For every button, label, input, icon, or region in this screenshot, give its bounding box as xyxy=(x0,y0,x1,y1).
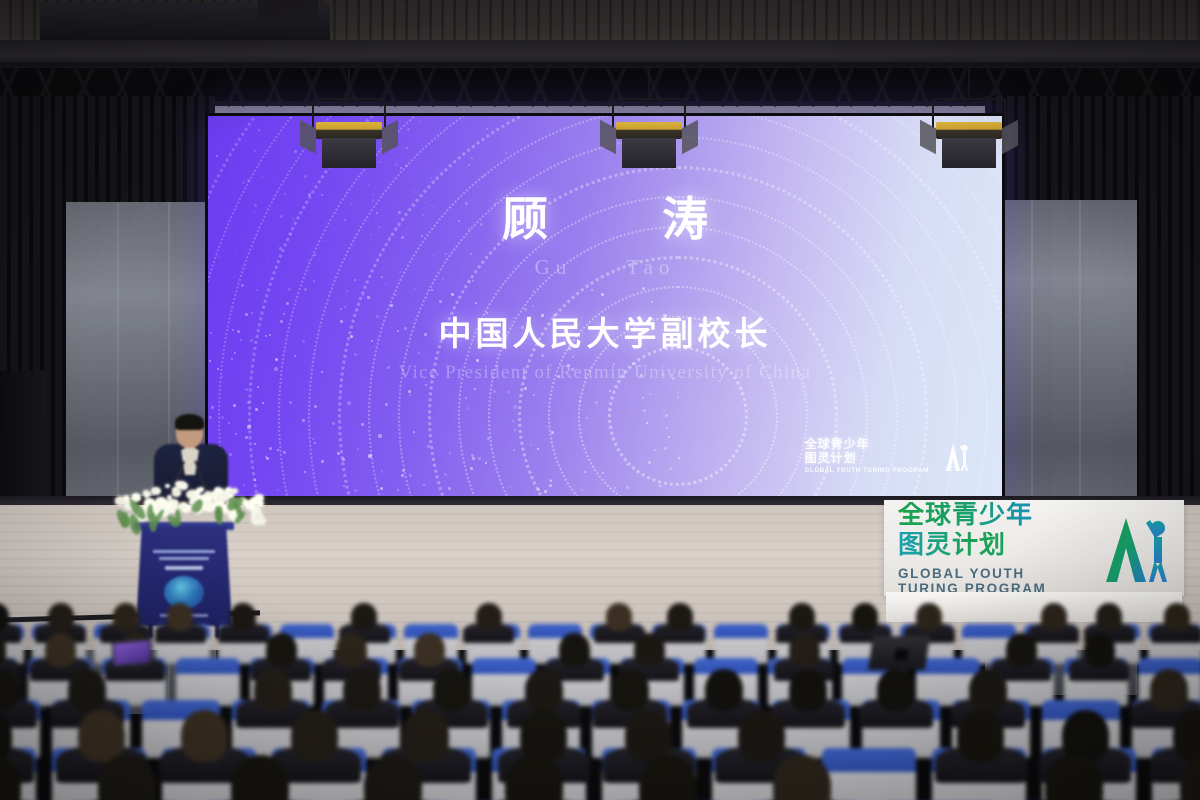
leaf xyxy=(174,509,181,526)
flower xyxy=(202,494,211,502)
truss-brace xyxy=(940,66,976,102)
truss-brace xyxy=(218,66,254,102)
audience-member-head xyxy=(1150,669,1188,711)
audience-member-head xyxy=(738,710,785,762)
audience-member-head xyxy=(705,669,743,711)
audience-member-head xyxy=(969,669,1007,711)
audience-member-head xyxy=(414,633,445,667)
audience-member-head xyxy=(68,669,106,711)
audience-member-head xyxy=(78,710,125,762)
audience-member-head xyxy=(476,603,502,631)
audience-member-head xyxy=(266,633,297,667)
audience-member-head xyxy=(254,669,292,711)
audience-member-head xyxy=(957,710,1004,762)
truss-brace xyxy=(902,66,938,102)
flower xyxy=(151,487,161,495)
truss-brace xyxy=(674,66,710,102)
audience-member-head xyxy=(48,603,74,631)
audience-member-head xyxy=(1006,633,1037,667)
audience-member-head xyxy=(520,710,567,762)
audience-member-head xyxy=(433,669,471,711)
audience-member-head xyxy=(852,603,878,631)
truss-brace xyxy=(750,66,786,102)
stage-light-fixture xyxy=(308,104,390,168)
control-monitor xyxy=(868,636,930,670)
screen-logo-en: GLOBAL YOUTH TURING PROGRAM xyxy=(805,468,929,474)
speaker-name-cn: 顾 涛 xyxy=(468,194,742,245)
audience-member-head xyxy=(877,669,915,711)
audience-member-head xyxy=(559,633,590,667)
laptop[interactable] xyxy=(112,638,152,667)
truss-brace xyxy=(788,66,824,102)
audience-member-head xyxy=(113,603,139,631)
audience-member-head xyxy=(667,603,693,631)
audience-member-head xyxy=(916,603,942,631)
audience-seat xyxy=(822,748,916,800)
truss-brace xyxy=(332,66,368,102)
screen-logo-cn-line2: 图灵计划 xyxy=(805,452,857,466)
audience-member-head xyxy=(789,603,815,631)
flower xyxy=(172,489,181,497)
conference-stage-scene: 顾 涛 Gu Tao 中国人民大学副校长 Vice President of R… xyxy=(0,0,1200,800)
audience-member-head xyxy=(1164,603,1190,631)
truss-brace xyxy=(826,66,862,102)
program-logo-cn-line2: 图灵计划 xyxy=(898,532,1086,559)
audience-member-head xyxy=(789,633,820,667)
flower xyxy=(256,500,264,507)
truss-brace xyxy=(522,66,558,102)
audience-seat xyxy=(176,658,240,706)
program-logo-cn-line1: 全球青少年 xyxy=(898,502,1086,529)
ceiling-equipment-box-small xyxy=(258,0,318,22)
truss-brace xyxy=(598,66,634,102)
audience-member-head xyxy=(343,669,381,711)
audience-member-head xyxy=(1096,603,1122,631)
audience-member-head xyxy=(45,633,76,667)
truss-brace xyxy=(712,66,748,102)
ai-figure-mark-icon xyxy=(936,440,970,472)
audience-member-head xyxy=(1084,633,1115,667)
speaker-name-en: Gu Tao xyxy=(535,251,676,281)
audience-member-head xyxy=(402,710,449,762)
audience-member-head xyxy=(336,633,367,667)
audience-member-head xyxy=(351,603,377,631)
floral-arrangement xyxy=(112,472,258,520)
audience-member-head xyxy=(1041,603,1067,631)
led-screen-surface: 顾 涛 Gu Tao 中国人民大学副校长 Vice President of R… xyxy=(208,116,1002,496)
screen-program-logo: 全球青少年 图灵计划 GLOBAL YOUTH TURING PROGRAM xyxy=(805,438,970,474)
truss-brace xyxy=(370,66,406,102)
speaker-title-cn: 中国人民大学副校长 xyxy=(439,307,772,355)
flower xyxy=(165,484,170,488)
flower xyxy=(177,481,186,488)
truss-brace xyxy=(636,66,672,102)
truss-brace xyxy=(256,66,292,102)
audience-member-head xyxy=(291,710,338,762)
stage-light-fixture xyxy=(608,104,690,168)
flower xyxy=(254,513,263,520)
truss-brace xyxy=(484,66,520,102)
audience-member-head xyxy=(230,603,256,631)
speaker-title-en: Vice President of Renmin University of C… xyxy=(399,362,812,384)
audience-member-head xyxy=(181,710,228,762)
truss-brace xyxy=(864,66,900,102)
truss-brace xyxy=(560,66,596,102)
audience-member-head xyxy=(606,603,632,631)
audience-seating xyxy=(0,596,1200,800)
audience-member-head xyxy=(611,669,649,711)
audience-member-head xyxy=(525,669,563,711)
audience-member-head xyxy=(634,633,665,667)
truss-brace xyxy=(294,66,330,102)
program-logo: 全球青少年 图灵计划 GLOBAL YOUTH TURING PROGRAM xyxy=(898,505,1174,593)
truss-brace xyxy=(446,66,482,102)
audience-member-head xyxy=(789,669,827,711)
led-screen: 顾 涛 Gu Tao 中国人民大学副校长 Vice President of R… xyxy=(205,113,1005,511)
audience-member-head xyxy=(167,603,193,631)
ai-figure-mark-icon xyxy=(1096,514,1174,584)
presenter-hair xyxy=(175,414,204,430)
truss-brace xyxy=(408,66,444,102)
stage-light-fixture xyxy=(928,104,1010,168)
